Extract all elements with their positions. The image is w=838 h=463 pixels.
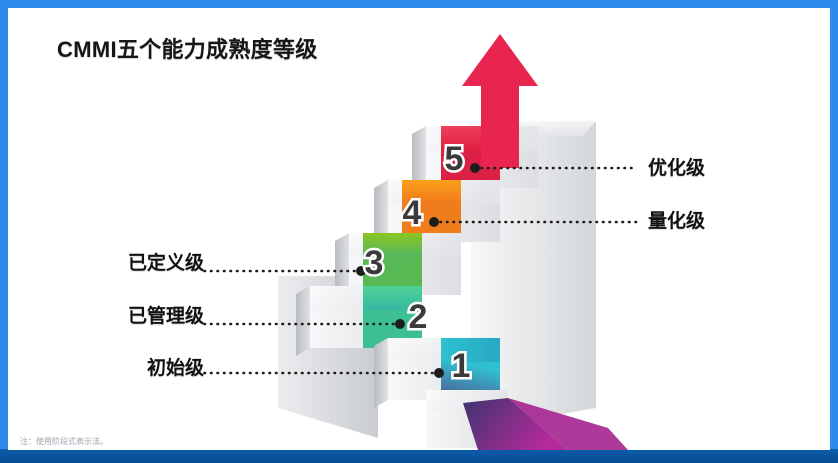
svg-text:5: 5	[445, 140, 464, 178]
step-label-3: 已定义级	[94, 248, 204, 275]
svg-text:1: 1	[452, 347, 471, 385]
step-label-1: 初始级	[94, 353, 204, 380]
svg-text:3: 3	[365, 244, 384, 282]
svg-text:2: 2	[409, 298, 428, 336]
bottom-accent-band	[0, 449, 838, 463]
staircase-diagram: 5 5 4 4 3 3 2 2 1 1	[8, 8, 830, 450]
slide-canvas: CMMI五个能力成熟度等级	[8, 8, 830, 450]
svg-text:4: 4	[403, 194, 422, 232]
step-label-2: 已管理级	[94, 301, 204, 328]
slide-frame: CMMI五个能力成熟度等级	[0, 0, 838, 463]
step-label-5: 优化级	[648, 153, 705, 180]
footnote: 注：使用阶段式表示法。	[20, 436, 108, 447]
step-label-4: 量化级	[648, 206, 705, 233]
